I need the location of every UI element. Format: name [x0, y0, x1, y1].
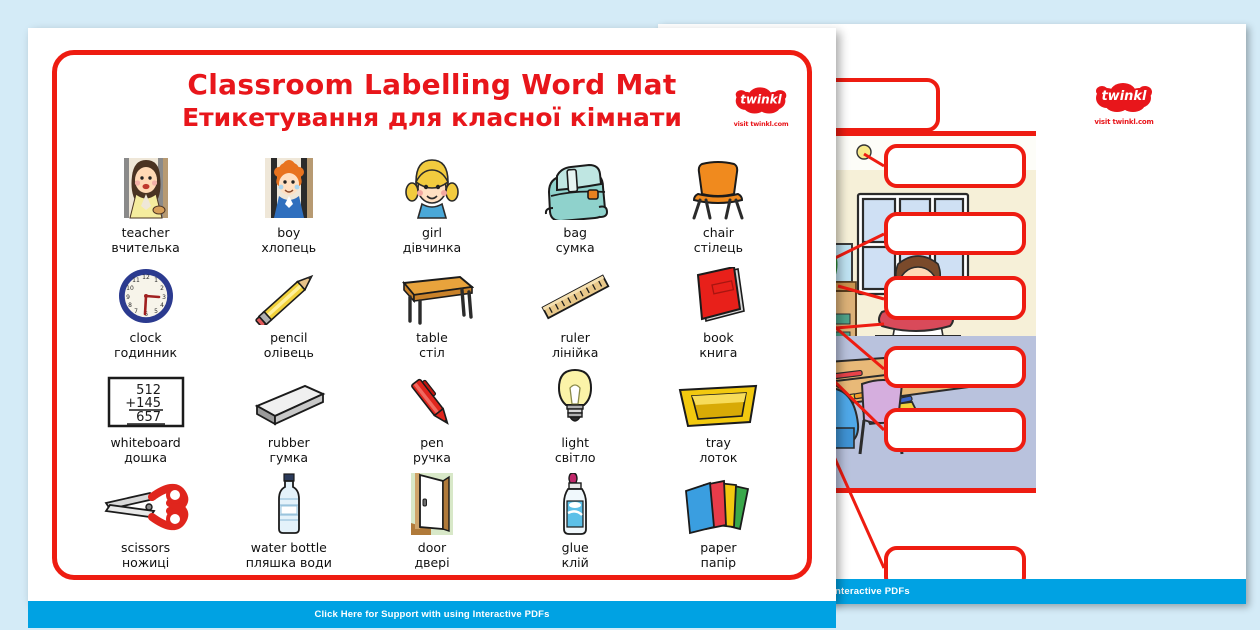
twinkl-cloud-icon: twinkl [1093, 82, 1155, 112]
svg-text:3: 3 [162, 294, 166, 301]
twinkl-wordmark-back: twinkl [1093, 89, 1155, 104]
word-en: teacher [122, 225, 170, 240]
word-en: scissors [121, 540, 170, 555]
chair-icon [690, 158, 746, 220]
word-uk: світло [555, 450, 596, 465]
boy-icon [257, 158, 321, 220]
word-cell-book[interactable]: book книга [647, 263, 790, 368]
word-en: tray [706, 435, 731, 450]
word-uk: дівчинка [403, 240, 461, 255]
page-title-ukrainian: Етикетування для класної кімнати [28, 103, 836, 132]
word-cell-glue[interactable]: glue клій [504, 473, 647, 578]
word-en: table [416, 330, 448, 345]
table-icon [390, 263, 474, 325]
front-page-word-mat: Classroom Labelling Word Mat Етикетуванн… [28, 28, 836, 601]
scissors-icon [102, 473, 190, 535]
label-box-4[interactable] [884, 212, 1026, 255]
clock-icon: 1212 345 678 91011 [117, 263, 175, 325]
teacher-icon [114, 158, 178, 220]
word-en: chair [703, 225, 734, 240]
svg-text:1: 1 [154, 277, 158, 284]
word-cell-scissors[interactable]: scissors ножиці [74, 473, 217, 578]
word-uk: сумка [556, 240, 595, 255]
word-en: pencil [270, 330, 307, 345]
word-en: water bottle [251, 540, 327, 555]
word-cell-pencil[interactable]: pencil олівець [217, 263, 360, 368]
word-cell-tray[interactable]: tray лоток [647, 368, 790, 473]
svg-text:10: 10 [126, 285, 134, 292]
word-cell-paper[interactable]: paper папір [647, 473, 790, 578]
svg-text:9: 9 [126, 294, 130, 301]
svg-text:4: 4 [160, 302, 164, 309]
word-cell-water-bottle[interactable]: water bottle пляшка води [217, 473, 360, 578]
word-en: boy [277, 225, 300, 240]
word-uk: папір [701, 555, 736, 570]
word-en: girl [422, 225, 442, 240]
word-uk: ножиці [122, 555, 169, 570]
whiteboard-icon: 512 +145 657 [103, 368, 189, 430]
label-box-6[interactable] [884, 346, 1026, 388]
word-en: door [418, 540, 446, 555]
word-uk: олівець [264, 345, 314, 360]
word-cell-boy[interactable]: boy хлопець [217, 158, 360, 263]
svg-text:7: 7 [134, 308, 138, 315]
word-cell-pen[interactable]: pen ручка [360, 368, 503, 473]
book-icon [686, 263, 750, 325]
word-uk: книга [699, 345, 737, 360]
word-cell-door[interactable]: door двері [360, 473, 503, 578]
word-cell-table[interactable]: table стіл [360, 263, 503, 368]
label-box-3[interactable] [884, 144, 1026, 188]
word-uk: лоток [699, 450, 737, 465]
page-title-english: Classroom Labelling Word Mat [28, 68, 836, 101]
word-en: bag [563, 225, 587, 240]
word-uk: дошка [124, 450, 167, 465]
word-en: glue [562, 540, 589, 555]
svg-text:11: 11 [132, 277, 140, 284]
word-cell-rubber[interactable]: rubber гумка [217, 368, 360, 473]
twinkl-logo-front[interactable]: twinkl visit twinkl.com [726, 86, 796, 128]
bag-icon [539, 158, 611, 220]
word-cell-whiteboard[interactable]: 512 +145 657 whiteboard дошка [74, 368, 217, 473]
front-page-footer-link[interactable]: Click Here for Support with using Intera… [28, 601, 836, 628]
twinkl-logo-back: twinkl visit twinkl.com [1088, 82, 1160, 126]
rubber-icon [249, 368, 329, 430]
word-cell-chair[interactable]: chair стілець [647, 158, 790, 263]
word-en: pen [420, 435, 444, 450]
svg-text:5: 5 [154, 308, 158, 315]
word-cell-clock[interactable]: 1212 345 678 91011 clock годинник [74, 263, 217, 368]
pen-icon [403, 368, 461, 430]
twinkl-tagline-front: visit twinkl.com [726, 120, 796, 128]
word-uk: вчителька [111, 240, 179, 255]
word-cell-teacher[interactable]: teacher вчителька [74, 158, 217, 263]
word-cell-girl[interactable]: girl дівчинка [360, 158, 503, 263]
word-uk: клій [562, 555, 589, 570]
paper-icon [678, 473, 758, 535]
word-uk: годинник [114, 345, 177, 360]
word-en: light [561, 435, 589, 450]
word-en: rubber [268, 435, 310, 450]
word-en: ruler [561, 330, 590, 345]
girl-icon [400, 158, 464, 220]
word-uk: стіл [419, 345, 445, 360]
sum-line-3: 657 [136, 410, 161, 425]
water-bottle-icon [272, 473, 306, 535]
svg-text:8: 8 [128, 302, 132, 309]
word-cell-ruler[interactable]: ruler лінійка [504, 263, 647, 368]
svg-text:2: 2 [160, 285, 164, 292]
word-uk: стілець [694, 240, 743, 255]
tray-icon [676, 368, 760, 430]
twinkl-cloud-icon-front: twinkl [733, 86, 789, 114]
word-en: whiteboard [110, 435, 180, 450]
word-cell-bag[interactable]: bag сумка [504, 158, 647, 263]
label-box-5[interactable] [884, 276, 1026, 320]
light-icon [551, 368, 599, 430]
word-uk: гумка [269, 450, 308, 465]
word-uk: пляшка води [246, 555, 332, 570]
word-uk: двері [414, 555, 449, 570]
twinkl-wordmark-front: twinkl [733, 93, 789, 107]
word-en: book [703, 330, 733, 345]
pencil-icon [253, 263, 325, 325]
word-en: clock [130, 330, 162, 345]
word-uk: хлопець [261, 240, 316, 255]
twinkl-tagline-back: visit twinkl.com [1088, 118, 1160, 126]
label-box-7[interactable] [884, 408, 1026, 452]
sum-line-2: +145 [125, 396, 161, 411]
door-icon [409, 473, 455, 535]
screenshot-canvas: twinkl visit twinkl.com [0, 0, 1260, 630]
ruler-icon [535, 263, 615, 325]
word-en: paper [700, 540, 736, 555]
svg-text:12: 12 [142, 274, 150, 281]
word-uk: лінійка [552, 345, 598, 360]
word-grid: teacher вчителька [74, 158, 790, 578]
page-title-block: Classroom Labelling Word Mat Етикетуванн… [28, 68, 836, 132]
word-uk: ручка [413, 450, 451, 465]
glue-icon [558, 473, 592, 535]
word-cell-light[interactable]: light світло [504, 368, 647, 473]
